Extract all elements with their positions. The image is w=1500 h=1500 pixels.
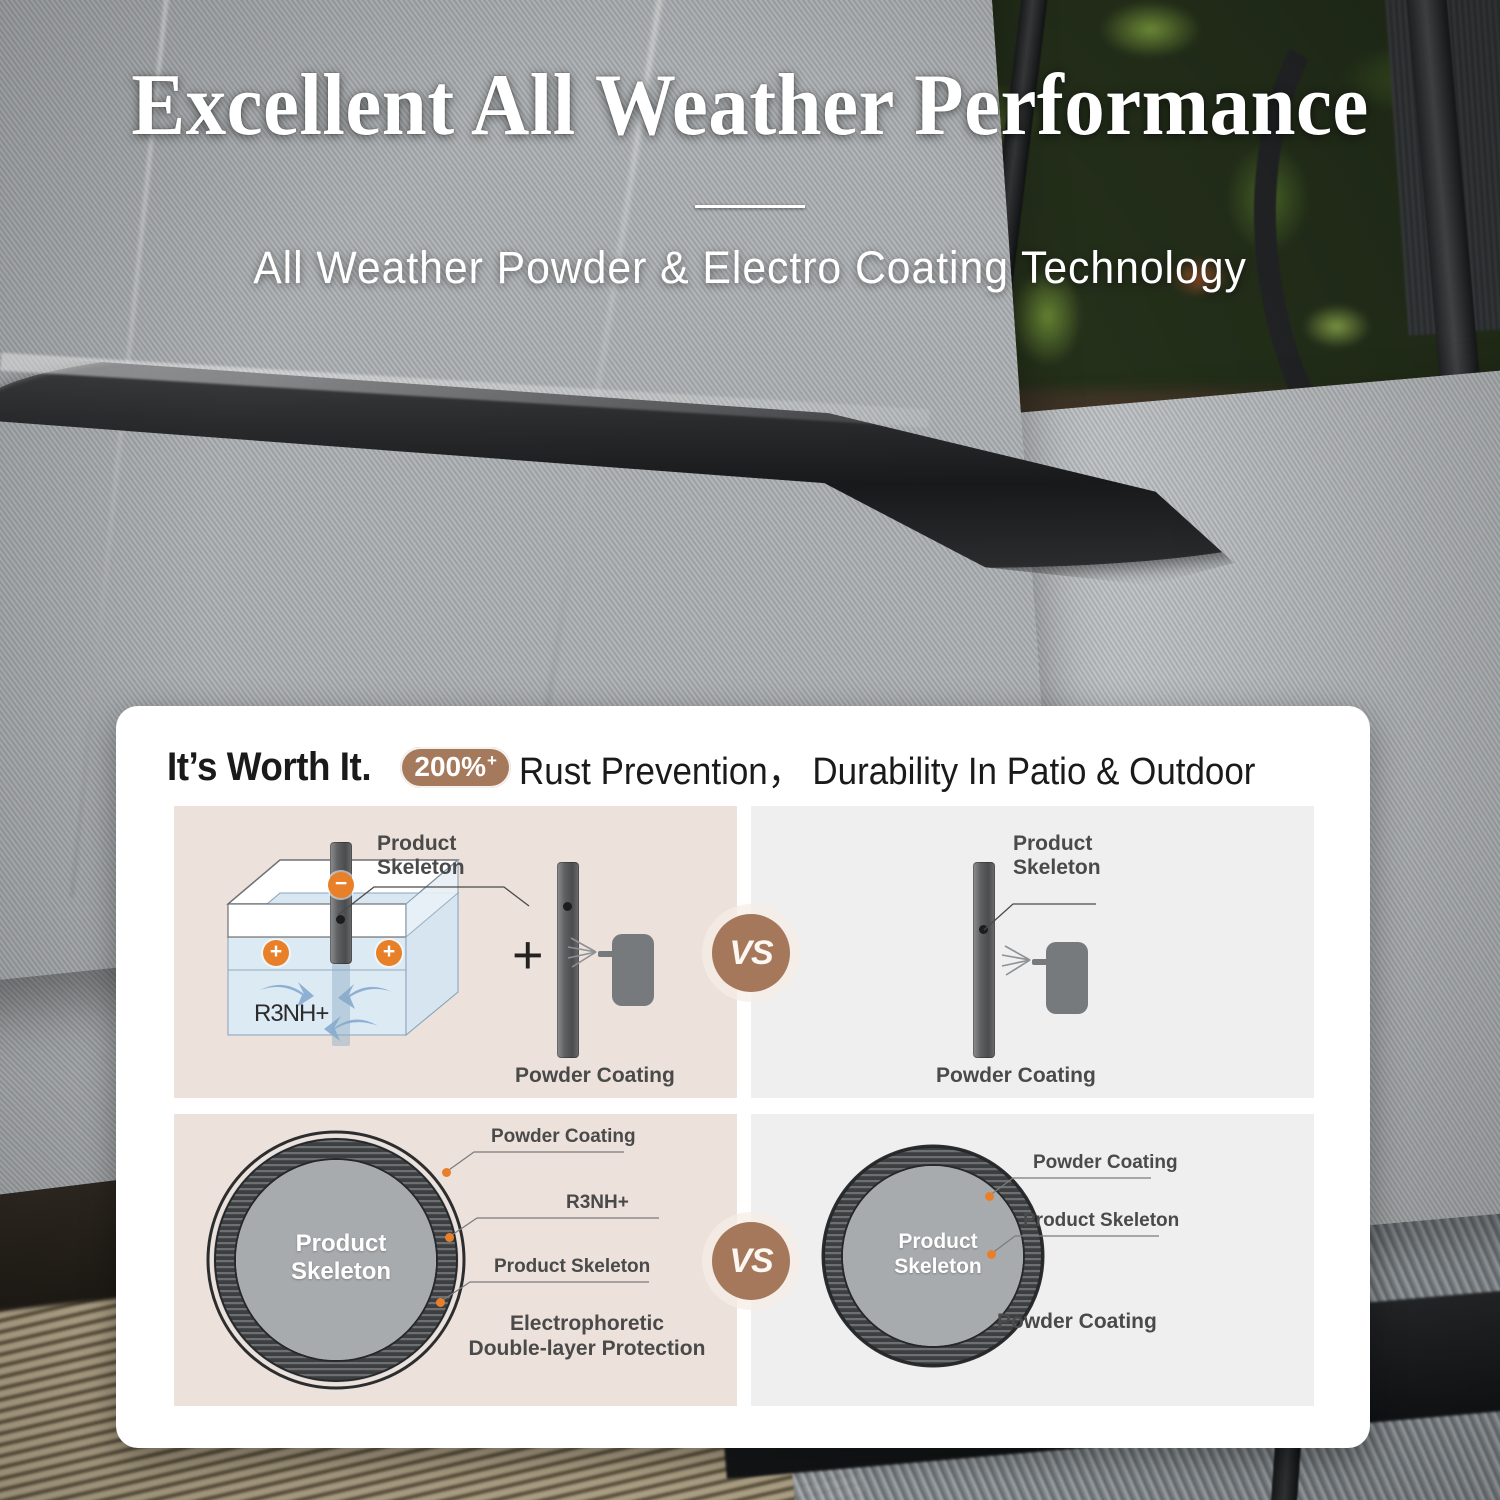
spray-mist-tl	[566, 934, 606, 974]
coated-rod-tr	[973, 862, 995, 1058]
callout-powder-coating-br: Powder Coating	[1033, 1152, 1178, 1174]
caption-bottom-right: Powder Coating	[997, 1310, 1157, 1335]
callout-product-skeleton-br: Product Skeleton	[1023, 1210, 1179, 1232]
badge-superscript: +	[487, 751, 497, 771]
cation-charge-right: +	[376, 940, 402, 966]
callout-product-skeleton-bl: Product Skeleton	[494, 1256, 650, 1278]
headline-strong: It’s Worth It.	[167, 745, 371, 790]
callout-dot-powder-bl	[442, 1168, 451, 1177]
headline-rest: Rust Prevention， Durability In Patio & O…	[519, 740, 1255, 795]
quadrant-bottom-left: Product Skeleton Powder Coating R3NH+ Pr…	[174, 1114, 737, 1406]
vs-badge-top: VS	[712, 914, 790, 992]
spray-mist-tr	[1000, 942, 1040, 982]
double-layer-cross-section	[196, 1122, 486, 1402]
badge-200-percent: 200%+	[400, 747, 511, 788]
coated-rod-dot-tl	[563, 902, 572, 911]
anion-charge-badge: −	[328, 872, 354, 898]
callout-r3nh-bl: R3NH+	[566, 1192, 629, 1214]
single-layer-cross-section	[813, 1138, 1063, 1388]
hero-subtitle: All Weather Powder & Electro Coating Tec…	[38, 243, 1463, 293]
quadrant-bottom-right: Product Skeleton Powder Coating Product …	[751, 1114, 1314, 1406]
electrophoresis-tank-diagram: − + + R3NH+	[218, 842, 518, 1072]
callout-dot-r3nh-bl	[445, 1233, 454, 1242]
label-powder-coating-tr: Powder Coating	[936, 1064, 1096, 1088]
callout-powder-coating-bl: Powder Coating	[491, 1126, 636, 1148]
card-headline: It’s Worth It. 200%+ Rust Prevention， Du…	[116, 740, 1370, 794]
label-powder-coating-tl: Powder Coating	[515, 1064, 675, 1088]
plus-symbol: +	[512, 928, 544, 982]
skeleton-anchor-dot	[336, 915, 345, 924]
vs-badge-bottom: VS	[712, 1222, 790, 1300]
spray-gun-body-tr	[1046, 942, 1088, 1014]
callout-dot-skeleton-br	[987, 1250, 996, 1259]
hero-title: Excellent All Weather Performance	[60, 62, 1440, 150]
cation-charge-left: +	[263, 940, 289, 966]
hero-divider	[695, 205, 805, 208]
quadrant-top-right: Product Skeleton Powder Coating	[751, 806, 1314, 1098]
callout-dot-powder-br	[985, 1192, 994, 1201]
infographic-root: Excellent All Weather Performance All We…	[0, 0, 1500, 1500]
caption-bottom-left: Electrophoretic Double-layer Protection	[452, 1312, 722, 1362]
quadrant-top-left: − + + R3NH+ Product Skeleton +	[174, 806, 737, 1098]
callout-dot-skeleton-bl	[436, 1298, 445, 1307]
coated-rod-dot-tr	[979, 925, 988, 934]
label-product-skeleton-tr: Product Skeleton	[1013, 832, 1101, 880]
comparison-card: It’s Worth It. 200%+ Rust Prevention， Du…	[116, 706, 1370, 1448]
product-skeleton-rod	[330, 842, 352, 964]
rod-submerged-part	[332, 964, 350, 1046]
spray-gun-body-tl	[612, 934, 654, 1006]
label-product-skeleton-tl: Product Skeleton	[377, 832, 465, 880]
comparison-grid: − + + R3NH+ Product Skeleton +	[174, 806, 1314, 1406]
badge-value: 200%	[414, 751, 486, 783]
solution-label: R3NH+	[254, 1000, 328, 1028]
